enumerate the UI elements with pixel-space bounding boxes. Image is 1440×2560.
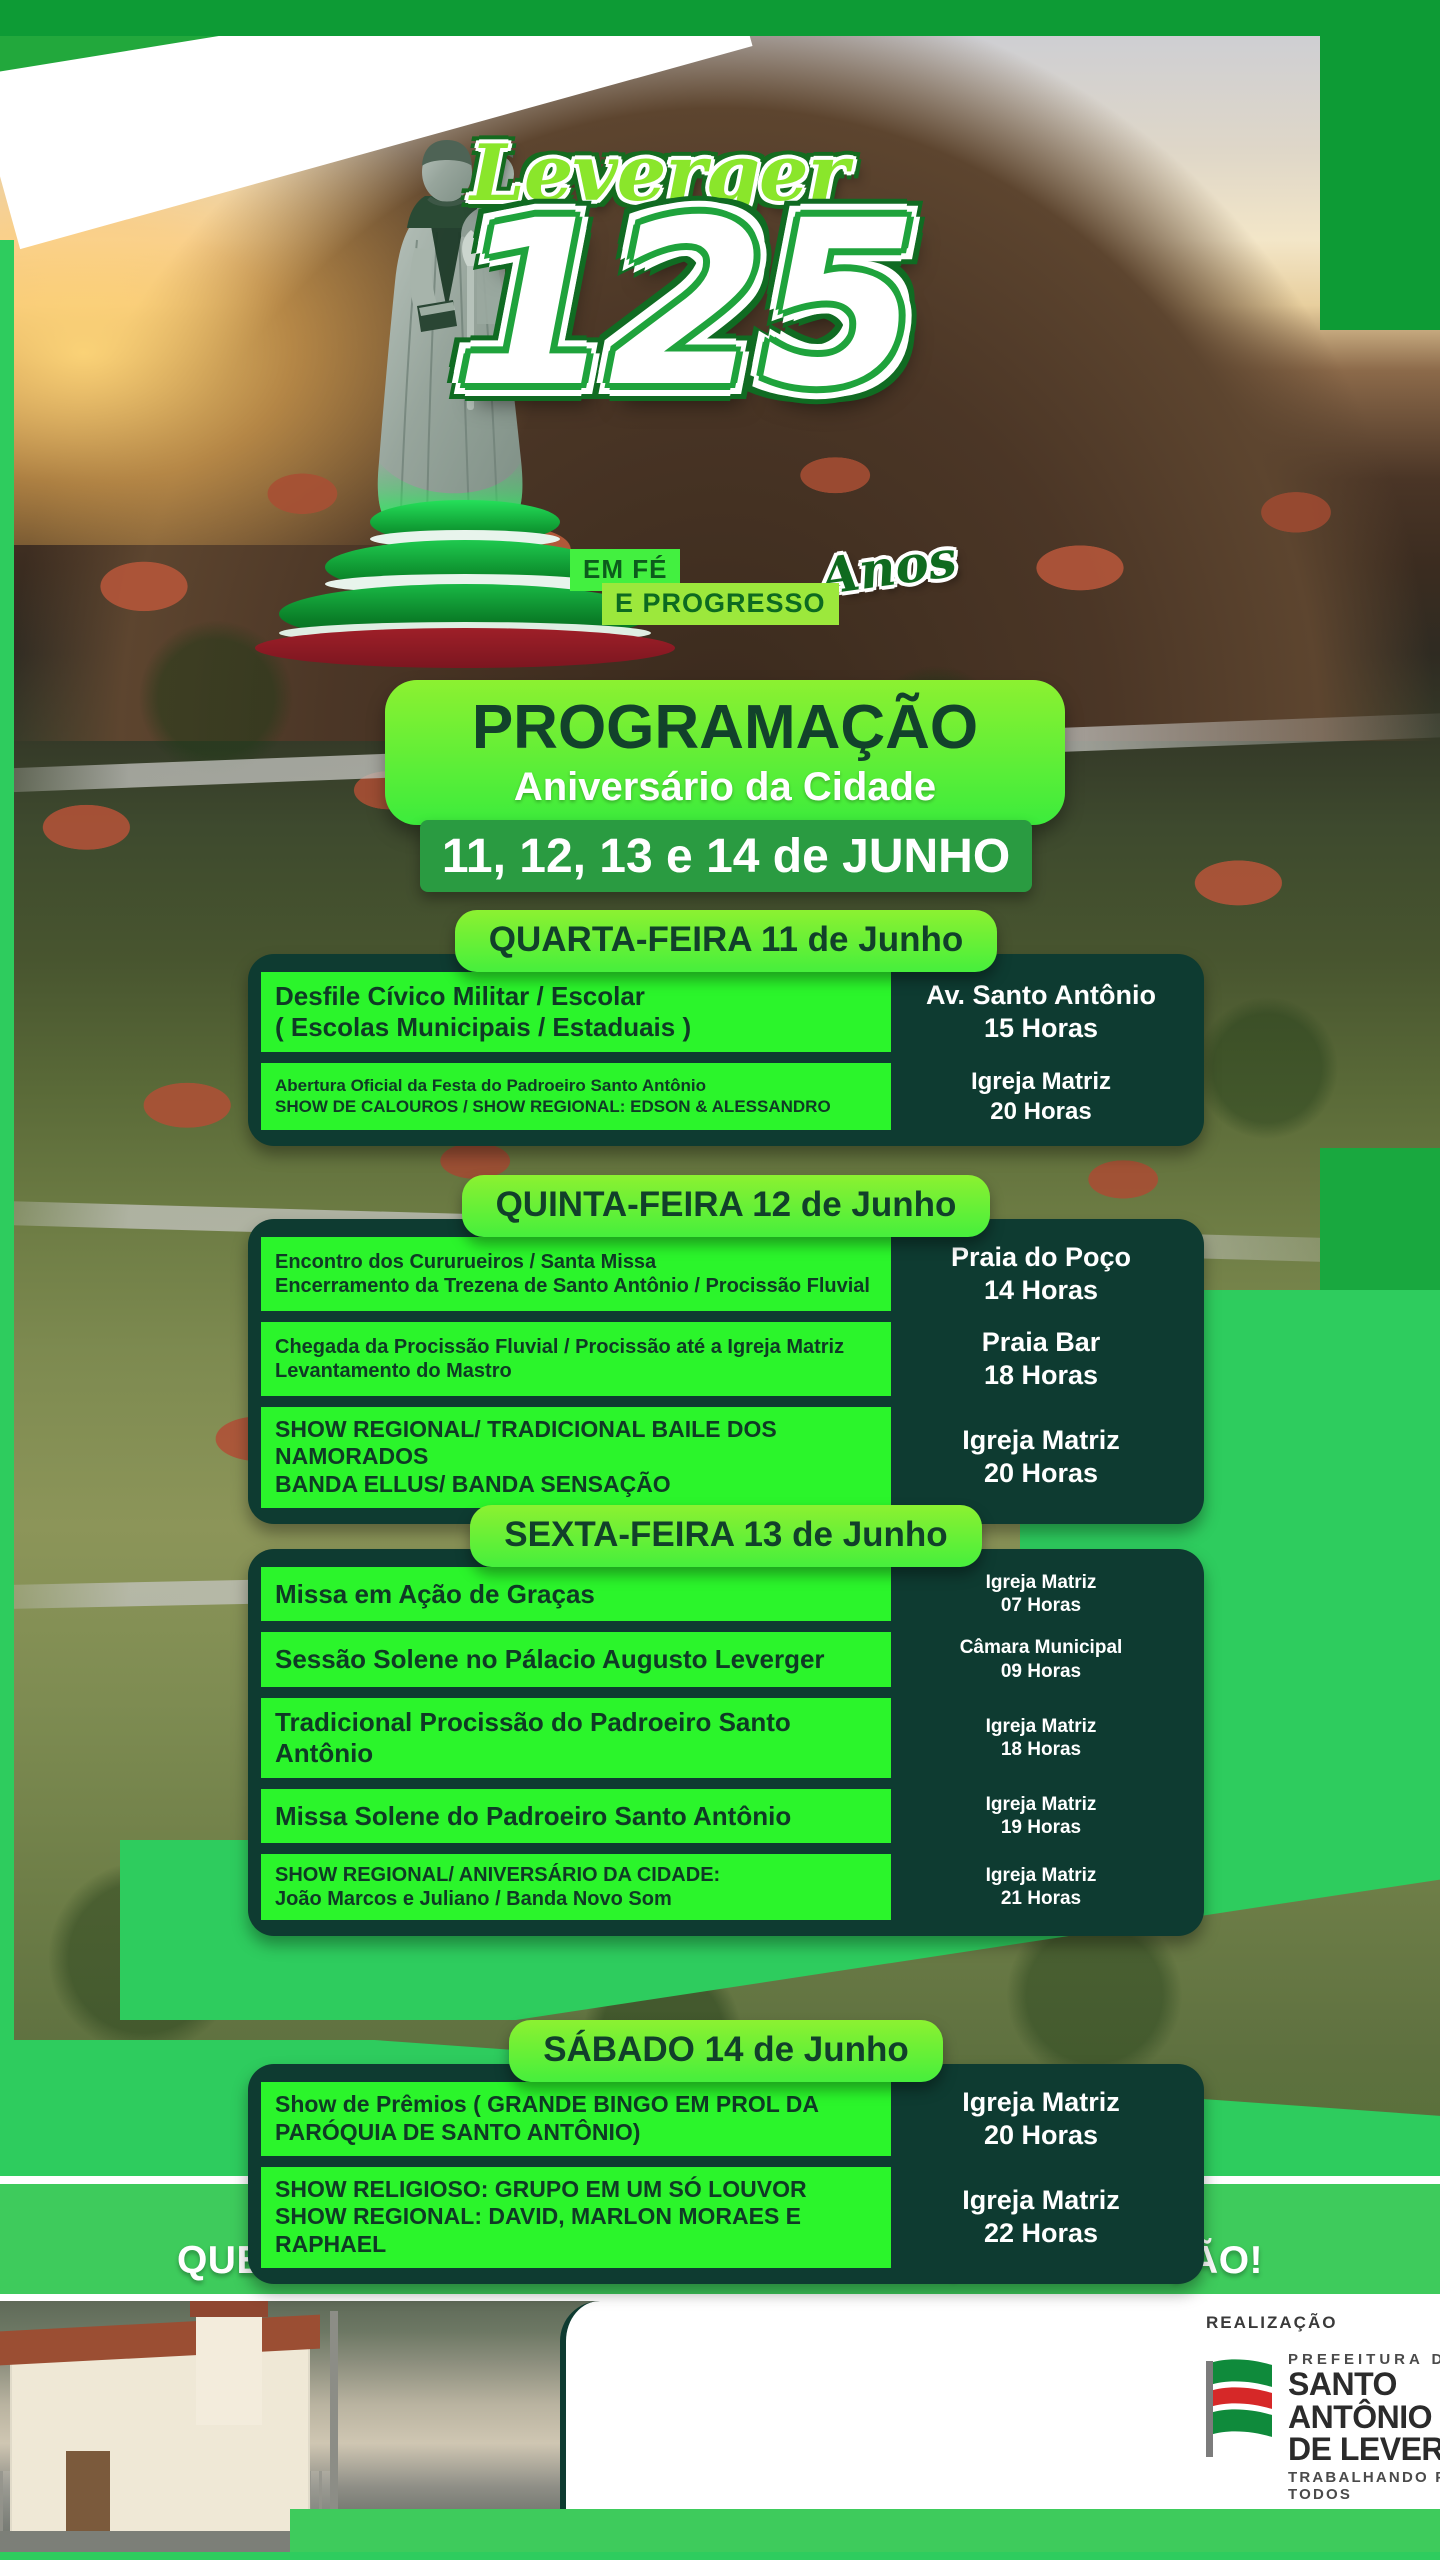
event-row: Sessão Solene no Pálacio Augusto Leverge…: [261, 1632, 1191, 1686]
dates-text: 11, 12, 13 e 14 de JUNHO: [442, 829, 1010, 884]
slogan-line-2: E PROGRESSO: [602, 583, 839, 625]
event-place: Câmara Municipal: [960, 1636, 1123, 1659]
day-events-card: Missa em Ação de GraçasIgreja Matriz07 H…: [248, 1549, 1204, 1936]
event-description: Missa em Ação de Graças: [261, 1567, 891, 1621]
day-block: SEXTA-FEIRA 13 de JunhoMissa em Ação de …: [248, 1505, 1204, 1936]
event-description-line: Encontro dos Cururueiros / Santa Missa: [275, 1250, 877, 1274]
day-events-card: Desfile Cívico Militar / Escolar( Escola…: [248, 954, 1204, 1146]
podium-base-red: [255, 628, 675, 668]
church-door: [66, 2451, 110, 2537]
event-place: Igreja Matriz: [962, 2184, 1120, 2217]
event-place-time: Igreja Matriz07 Horas: [891, 1567, 1191, 1621]
church-tower-roof: [190, 2301, 268, 2317]
day-block: QUINTA-FEIRA 12 de JunhoEncontro dos Cur…: [248, 1175, 1204, 1524]
event-description-line: João Marcos e Juliano / Banda Novo Som: [275, 1887, 877, 1911]
event-description-line: Abertura Oficial da Festa do Padroeiro S…: [275, 1076, 877, 1096]
programacao-header: PROGRAMAÇÃO Aniversário da Cidade: [385, 680, 1065, 825]
event-time: 15 Horas: [984, 1012, 1098, 1045]
event-place: Igreja Matriz: [971, 1067, 1111, 1096]
event-time: 20 Horas: [984, 2119, 1098, 2152]
divider-rule: [0, 2294, 1440, 2301]
event-time: 22 Horas: [984, 2217, 1098, 2250]
day-header-pill: SÁBADO 14 de Junho: [509, 2020, 943, 2082]
event-row: Chegada da Procissão Fluvial / Procissão…: [261, 1322, 1191, 1396]
realizacao-label: REALIZAÇÃO: [1206, 2313, 1337, 2333]
utility-pole: [330, 2311, 338, 2541]
event-place: Igreja Matriz: [962, 2086, 1120, 2119]
event-time: 18 Horas: [1001, 1738, 1081, 1761]
event-place-time: Igreja Matriz18 Horas: [891, 1698, 1191, 1778]
event-description-line: SHOW REGIONAL/ TRADICIONAL BAILE DOS NAM…: [275, 1416, 877, 1471]
day-events-card: Encontro dos Cururueiros / Santa MissaEn…: [248, 1219, 1204, 1524]
event-description-line: Missa em Ação de Graças: [275, 1579, 877, 1610]
event-place-time: Praia do Poço14 Horas: [891, 1237, 1191, 1311]
event-row: Abertura Oficial da Festa do Padroeiro S…: [261, 1063, 1191, 1130]
event-time: 20 Horas: [984, 1457, 1098, 1490]
event-place: Igreja Matriz: [986, 1793, 1097, 1816]
day-events-card: Show de Prêmios ( GRANDE BINGO EM PROL D…: [248, 2064, 1204, 2284]
event-description-line: Show de Prêmios ( GRANDE BINGO EM PROL D…: [275, 2091, 877, 2119]
event-description: Missa Solene do Padroeiro Santo Antônio: [261, 1789, 891, 1843]
bottom-edge-strip: [0, 2552, 1440, 2560]
event-description: Show de Prêmios ( GRANDE BINGO EM PROL D…: [261, 2082, 891, 2156]
prefeitura-logo: PREFEITURA DE SANTO ANTÔNIO DE LEVERGER …: [1206, 2351, 1440, 2471]
event-row: Show de Prêmios ( GRANDE BINGO EM PROL D…: [261, 2082, 1191, 2156]
event-place-time: Igreja Matriz21 Horas: [891, 1854, 1191, 1920]
event-description-line: SHOW DE CALOUROS / SHOW REGIONAL: EDSON …: [275, 1097, 877, 1117]
event-row: SHOW RELIGIOSO: GRUPO EM UM SÓ LOUVORSHO…: [261, 2167, 1191, 2268]
event-time: 14 Horas: [984, 1274, 1098, 1307]
event-description: SHOW RELIGIOSO: GRUPO EM UM SÓ LOUVORSHO…: [261, 2167, 891, 2268]
event-description: Abertura Oficial da Festa do Padroeiro S…: [261, 1063, 891, 1130]
event-description-line: Tradicional Procissão do Padroeiro Santo…: [275, 1707, 877, 1769]
prefeitura-flag-icon: [1206, 2357, 1278, 2459]
event-time: 21 Horas: [1001, 1887, 1081, 1910]
footer: REALIZAÇÃO APOIO PREFEITURA DE SANTO ANT…: [0, 2301, 1440, 2560]
day-header-pill: QUARTA-FEIRA 11 de Junho: [455, 910, 997, 972]
prefeitura-line-4: TRABALHANDO PARA TODOS: [1288, 2469, 1440, 2503]
event-place: Praia do Poço: [951, 1241, 1131, 1274]
event-time: 20 Horas: [990, 1097, 1091, 1126]
event-description-line: Levantamento do Mastro: [275, 1359, 877, 1383]
event-description-line: Missa Solene do Padroeiro Santo Antônio: [275, 1801, 877, 1832]
event-time: 18 Horas: [984, 1359, 1098, 1392]
day-block: QUARTA-FEIRA 11 de JunhoDesfile Cívico M…: [248, 910, 1204, 1146]
prefeitura-line-3: DE LEVERGER: [1288, 2433, 1440, 2466]
event-time: 09 Horas: [1001, 1660, 1081, 1683]
event-description: Chegada da Procissão Fluvial / Procissão…: [261, 1322, 891, 1396]
anniversary-logo-zone: Leverger 125 Anos EM FÉ E PROGRESSO: [0, 30, 1440, 630]
event-place-time: Igreja Matriz20 Horas: [891, 1407, 1191, 1508]
event-description-line: BANDA ELLUS/ BANDA SENSAÇÃO: [275, 1471, 877, 1499]
event-description: SHOW REGIONAL/ TRADICIONAL BAILE DOS NAM…: [261, 1407, 891, 1508]
event-place-time: Igreja Matriz20 Horas: [891, 1063, 1191, 1130]
event-description-line: Encerramento da Trezena de Santo Antônio…: [275, 1274, 877, 1298]
event-row: Encontro dos Cururueiros / Santa MissaEn…: [261, 1237, 1191, 1311]
event-description-line: Sessão Solene no Pálacio Augusto Leverge…: [275, 1644, 877, 1675]
event-place-time: Igreja Matriz20 Horas: [891, 2082, 1191, 2156]
church-building: [10, 2339, 310, 2539]
dates-badge: 11, 12, 13 e 14 de JUNHO: [420, 820, 1032, 892]
event-description: SHOW REGIONAL/ ANIVERSÁRIO DA CIDADE:Joã…: [261, 1854, 891, 1920]
event-description: Sessão Solene no Pálacio Augusto Leverge…: [261, 1632, 891, 1686]
prefeitura-line-2: SANTO ANTÔNIO: [1288, 2368, 1440, 2433]
right-green-accent: [1320, 1148, 1440, 1298]
event-place-time: Av. Santo Antônio15 Horas: [891, 972, 1191, 1052]
day-block: SÁBADO 14 de JunhoShow de Prêmios ( GRAN…: [248, 2020, 1204, 2284]
event-description-line: Desfile Cívico Militar / Escolar: [275, 981, 877, 1012]
event-description-line: SHOW REGIONAL: DAVID, MARLON MORAES E RA…: [275, 2203, 877, 2258]
event-description-line: PARÓQUIA DE SANTO ANTÔNIO): [275, 2119, 877, 2147]
event-description: Encontro dos Cururueiros / Santa MissaEn…: [261, 1237, 891, 1311]
event-time: 07 Horas: [1001, 1594, 1081, 1617]
event-place-time: Igreja Matriz19 Horas: [891, 1789, 1191, 1843]
event-description-line: SHOW RELIGIOSO: GRUPO EM UM SÓ LOUVOR: [275, 2176, 877, 2204]
event-description: Tradicional Procissão do Padroeiro Santo…: [261, 1698, 891, 1778]
event-place: Igreja Matriz: [986, 1571, 1097, 1594]
page-subtitle: Aniversário da Cidade: [514, 765, 936, 809]
event-place: Av. Santo Antônio: [926, 979, 1156, 1012]
event-row: Tradicional Procissão do Padroeiro Santo…: [261, 1698, 1191, 1778]
event-row: Missa em Ação de GraçasIgreja Matriz07 H…: [261, 1567, 1191, 1621]
event-place-time: Praia Bar18 Horas: [891, 1322, 1191, 1396]
church-tower: [196, 2305, 262, 2425]
poster-root: Leverger 125 Anos EM FÉ E PROGRESSO PROG…: [0, 0, 1440, 2560]
event-description-line: SHOW REGIONAL/ ANIVERSÁRIO DA CIDADE:: [275, 1863, 877, 1887]
event-row: SHOW REGIONAL/ TRADICIONAL BAILE DOS NAM…: [261, 1407, 1191, 1508]
anniversary-number: 125: [455, 190, 913, 418]
sponsor-card: REALIZAÇÃO APOIO PREFEITURA DE SANTO ANT…: [560, 2301, 1440, 2509]
event-row: Missa Solene do Padroeiro Santo AntônioI…: [261, 1789, 1191, 1843]
event-time: 19 Horas: [1001, 1816, 1081, 1839]
event-row: Desfile Cívico Militar / Escolar( Escola…: [261, 972, 1191, 1052]
event-place: Praia Bar: [982, 1326, 1101, 1359]
page-title: PROGRAMAÇÃO: [472, 697, 978, 759]
event-place: Igreja Matriz: [962, 1424, 1120, 1457]
event-row: SHOW REGIONAL/ ANIVERSÁRIO DA CIDADE:Joã…: [261, 1854, 1191, 1920]
event-description-line: Chegada da Procissão Fluvial / Procissão…: [275, 1335, 877, 1359]
day-header-pill: SEXTA-FEIRA 13 de Junho: [470, 1505, 981, 1567]
event-description: Desfile Cívico Militar / Escolar( Escola…: [261, 972, 891, 1052]
event-place: Igreja Matriz: [986, 1715, 1097, 1738]
event-description-line: ( Escolas Municipais / Estaduais ): [275, 1012, 877, 1043]
event-place-time: Câmara Municipal09 Horas: [891, 1632, 1191, 1686]
prefeitura-text: PREFEITURA DE SANTO ANTÔNIO DE LEVERGER …: [1288, 2351, 1440, 2503]
event-place-time: Igreja Matriz22 Horas: [891, 2167, 1191, 2268]
day-header-pill: QUINTA-FEIRA 12 de Junho: [462, 1175, 991, 1237]
event-place: Igreja Matriz: [986, 1864, 1097, 1887]
